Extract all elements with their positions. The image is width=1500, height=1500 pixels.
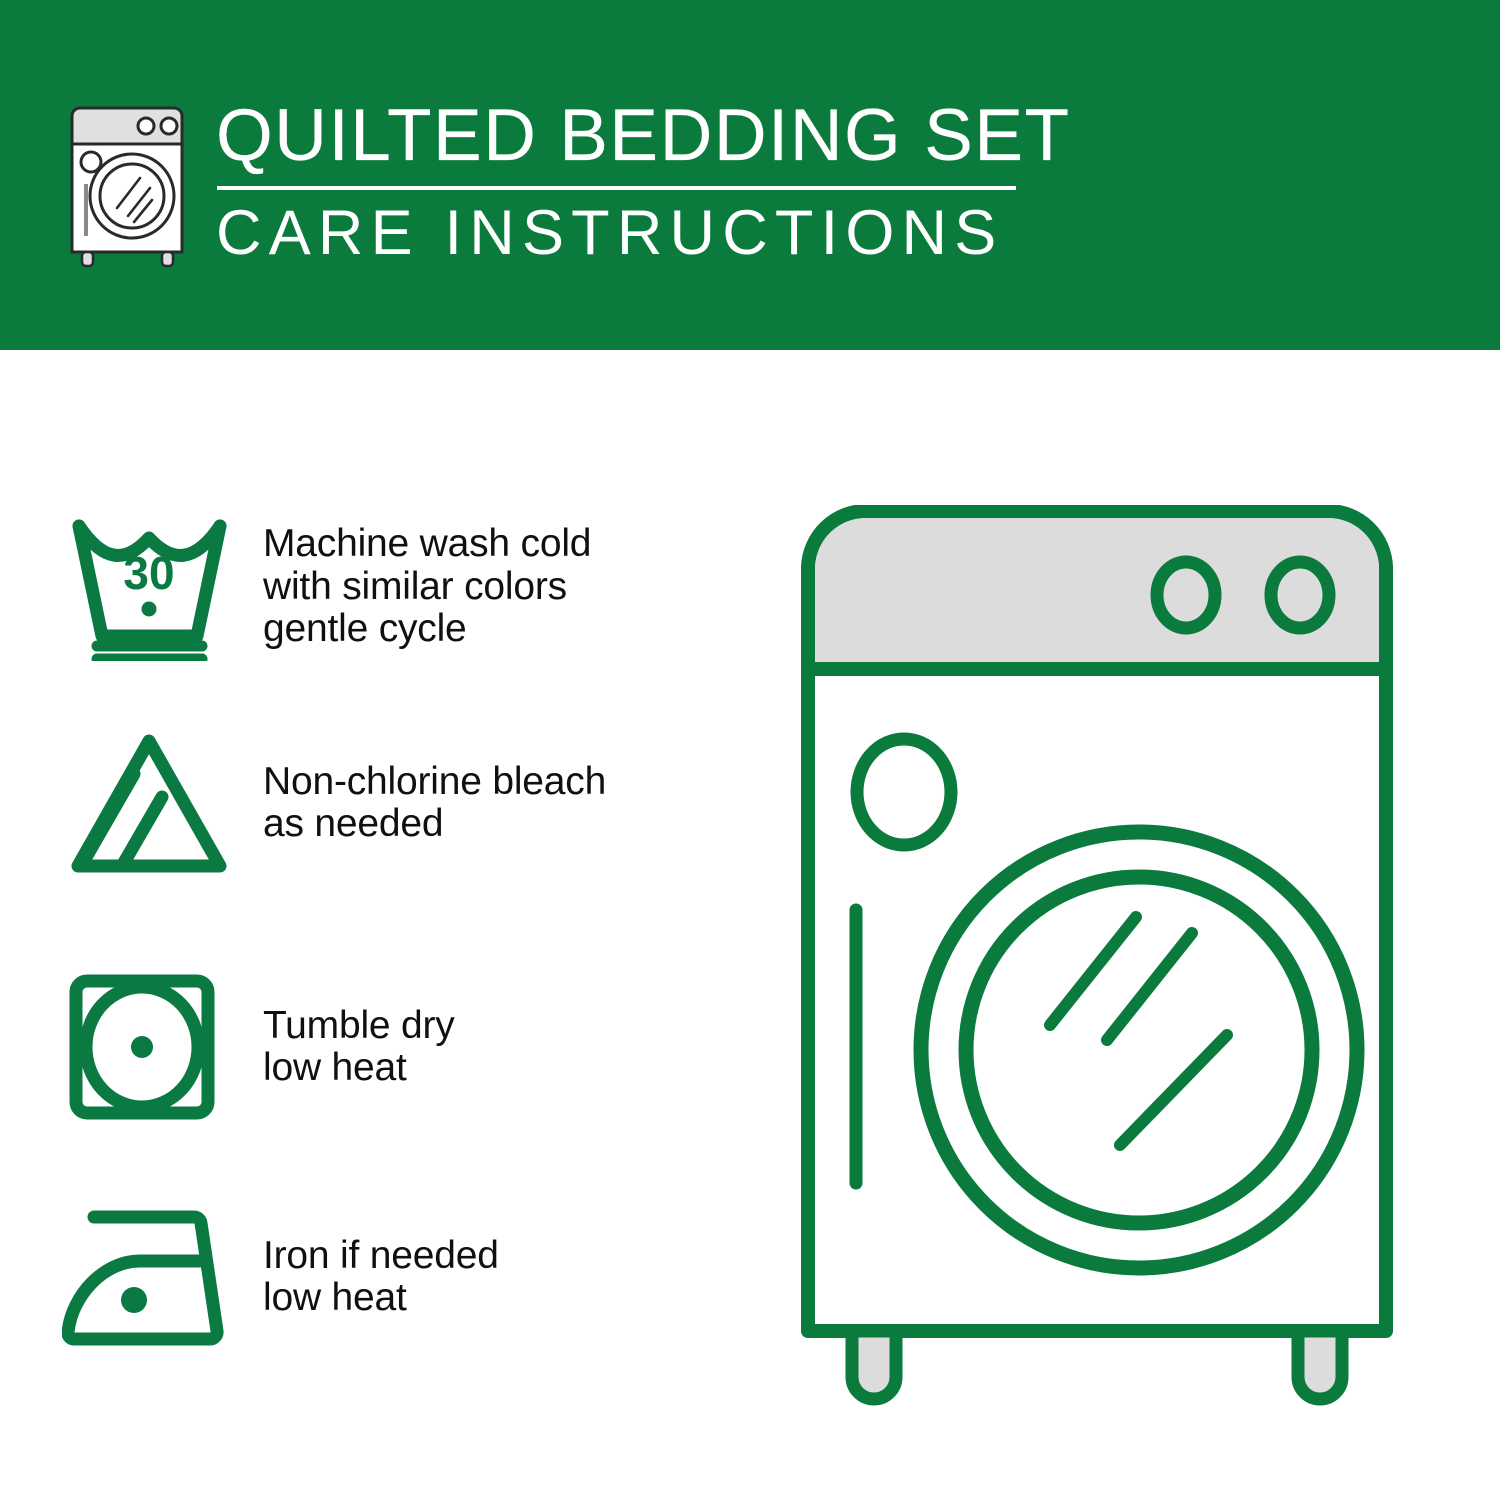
- care-line: Tumble dry: [263, 1005, 455, 1048]
- care-instruction-list: 30 Machine wash cold with similar colors…: [0, 350, 720, 1500]
- header-text-block: QUILTED BEDDING SET CARE INSTRUCTIONS: [216, 96, 1036, 270]
- washer-door-inner-ring: [966, 877, 1312, 1223]
- wash-temperature-label: 30: [123, 547, 174, 599]
- care-line: with similar colors: [263, 566, 591, 609]
- detergent-dispenser-icon: [857, 739, 951, 845]
- care-instruction-row: Tumble dry low heat: [0, 972, 700, 1122]
- machine-wash-30-gentle-symbol: 30: [62, 512, 237, 662]
- knob-icon: [1157, 562, 1215, 628]
- care-line: low heat: [263, 1277, 499, 1320]
- care-instruction-row: Iron if needed low heat: [0, 1202, 700, 1352]
- care-line: gentle cycle: [263, 608, 591, 651]
- care-instruction-text: Tumble dry low heat: [263, 1005, 455, 1090]
- washer-leg: [852, 1331, 896, 1399]
- washing-machine-icon: [62, 100, 207, 268]
- title-divider: [217, 186, 1016, 190]
- care-instruction-text: Non-chlorine bleach as needed: [263, 761, 606, 846]
- knob-icon: [1271, 562, 1329, 628]
- care-line: Machine wash cold: [263, 523, 591, 566]
- front-load-washing-machine-illustration: [752, 505, 1442, 1410]
- non-chlorine-bleach-symbol: [62, 728, 237, 878]
- header-banner: QUILTED BEDDING SET CARE INSTRUCTIONS: [0, 0, 1500, 350]
- care-line: Iron if needed: [263, 1235, 499, 1278]
- page-title: QUILTED BEDDING SET: [216, 96, 1036, 176]
- care-instruction-row: 30 Machine wash cold with similar colors…: [0, 512, 700, 662]
- tumble-dry-low-symbol: [62, 972, 237, 1122]
- page-subtitle: CARE INSTRUCTIONS: [216, 196, 1036, 270]
- care-line: Non-chlorine bleach: [263, 761, 606, 804]
- washer-leg: [1298, 1331, 1342, 1399]
- care-instruction-text: Machine wash cold with similar colors ge…: [263, 523, 591, 651]
- care-instruction-row: Non-chlorine bleach as needed: [0, 728, 700, 878]
- care-line: low heat: [263, 1047, 455, 1090]
- care-instruction-text: Iron if needed low heat: [263, 1235, 499, 1320]
- care-line: as needed: [263, 803, 606, 846]
- iron-low-heat-symbol: [62, 1202, 237, 1352]
